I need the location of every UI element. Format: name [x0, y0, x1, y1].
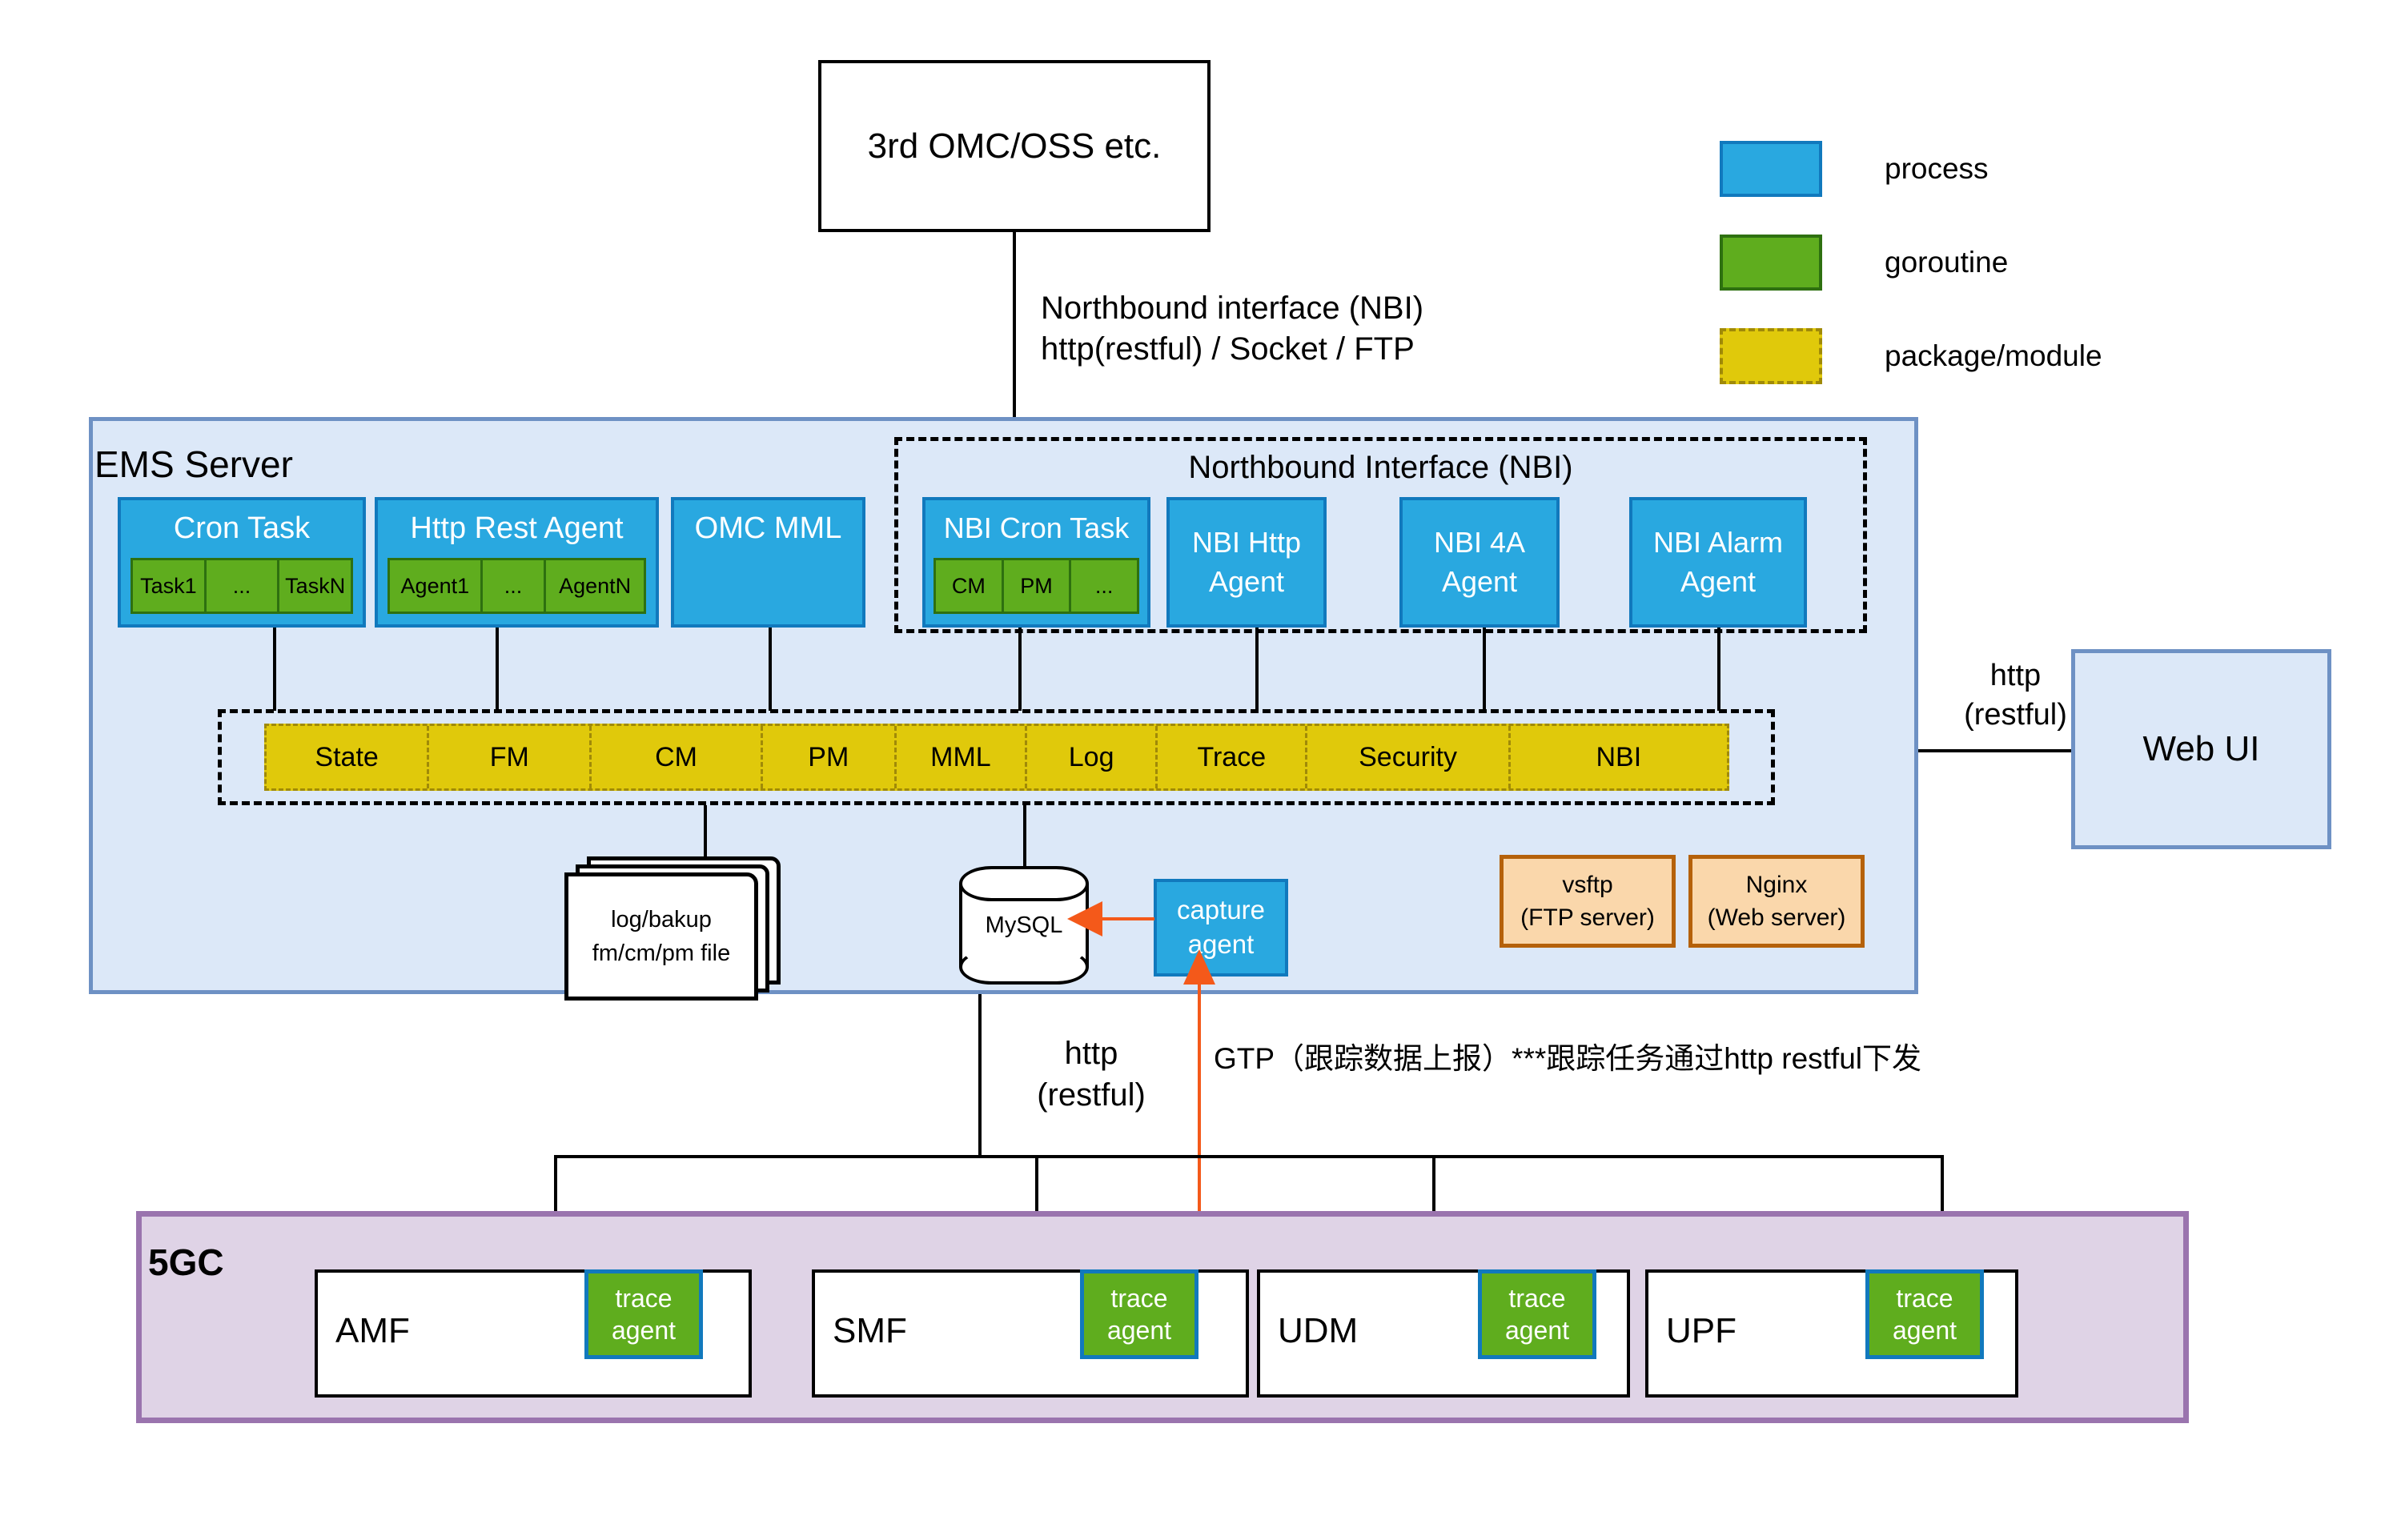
goroutine-row-http-rest-agent: Agent1 ... AgentN: [387, 558, 646, 614]
trace-agent-amf[interactable]: trace agent: [584, 1269, 703, 1359]
goroutine-ellipsis: ...: [1071, 558, 1139, 614]
goroutine-agent1[interactable]: Agent1: [387, 558, 483, 614]
mysql-database: MySQL: [959, 866, 1089, 985]
nf-upf-label: UPF: [1666, 1311, 1736, 1351]
file-sheet-front: log/bakup fm/cm/pm file: [564, 872, 758, 1001]
module-nbi[interactable]: NBI: [1511, 726, 1727, 788]
nf-udm-label: UDM: [1278, 1311, 1358, 1351]
trace-agent-amf-line2: agent: [612, 1314, 676, 1346]
process-omc-mml-label: OMC MML: [674, 500, 862, 556]
trace-agent-smf-line2: agent: [1107, 1314, 1171, 1346]
connector-http-rest-agent-to-modules: [496, 628, 499, 711]
capture-agent-line1: capture: [1177, 893, 1265, 928]
module-mml[interactable]: MML: [897, 726, 1027, 788]
legend-swatch-process: [1720, 141, 1822, 197]
connector-ems-to-web-ui: [1918, 749, 2071, 752]
legend-item-goroutine: goroutine: [1720, 238, 2216, 287]
legend-label-package: package/module: [1885, 339, 2102, 373]
legend-label-process: process: [1885, 152, 1989, 186]
legend-swatch-package: [1720, 328, 1822, 384]
goroutine-pm[interactable]: PM: [1004, 558, 1072, 614]
module-pm[interactable]: PM: [763, 726, 897, 788]
module-state[interactable]: State: [267, 726, 429, 788]
connector-nbi-cron-task-to-modules: [1018, 628, 1022, 711]
process-nbi-4a-agent-label-line1: NBI 4A: [1434, 523, 1525, 563]
nginx-line2: (Web server): [1708, 901, 1846, 934]
southbound-http-line2: (restful): [1007, 1074, 1175, 1116]
log-backup-files: log/bakup fm/cm/pm file: [564, 856, 773, 983]
trace-agent-smf-line1: trace: [1110, 1282, 1167, 1314]
trace-agent-amf-line1: trace: [615, 1282, 672, 1314]
trace-agent-upf[interactable]: trace agent: [1865, 1269, 1984, 1359]
connector-nbi-4a-agent-to-modules: [1483, 628, 1486, 711]
trace-agent-upf-line2: agent: [1893, 1314, 1957, 1346]
nbi-link-line2: http(restful) / Socket / FTP: [1041, 329, 1681, 370]
web-ui-box[interactable]: Web UI: [2071, 649, 2331, 849]
goroutine-row-nbi-cron-task: CM PM ...: [933, 558, 1139, 614]
nf-smf-label: SMF: [833, 1311, 907, 1351]
southbound-http-trunk: [978, 994, 982, 1155]
goroutine-ellipsis: ...: [483, 558, 547, 614]
arrowhead-gtp-to-capture-agent: [1182, 949, 1217, 988]
southbound-http-line1: http: [1007, 1033, 1175, 1074]
log-backup-line1: log/bakup: [611, 903, 712, 936]
process-nbi-cron-task-label: NBI Cron Task: [925, 500, 1147, 556]
web-ui-link-label: http (restful): [1945, 656, 2086, 734]
legend-swatch-goroutine: [1720, 235, 1822, 291]
http-distribution-bus: [554, 1155, 1944, 1158]
trace-agent-udm[interactable]: trace agent: [1478, 1269, 1596, 1359]
connector-nbi-alarm-agent-to-modules: [1717, 628, 1720, 711]
process-cron-task[interactable]: Cron Task Task1 ... TaskN: [118, 497, 366, 628]
connector-cron-task-to-modules: [273, 628, 276, 711]
process-cron-task-label: Cron Task: [121, 500, 363, 556]
vsftp-line2: (FTP server): [1520, 901, 1655, 934]
process-nbi-alarm-agent[interactable]: NBI Alarm Agent: [1629, 497, 1807, 628]
goroutine-cm[interactable]: CM: [933, 558, 1004, 614]
goroutine-taskn[interactable]: TaskN: [279, 558, 353, 614]
nginx-line1: Nginx: [1746, 868, 1808, 901]
third-party-omc-oss-label: 3rd OMC/OSS etc.: [868, 126, 1162, 166]
process-capture-agent[interactable]: capture agent: [1154, 879, 1288, 977]
web-ui-link-line2: (restful): [1945, 696, 2086, 735]
goroutine-agentn[interactable]: AgentN: [546, 558, 646, 614]
legend-item-package: package/module: [1720, 331, 2216, 381]
process-nbi-http-agent[interactable]: NBI Http Agent: [1166, 497, 1327, 628]
legend-label-goroutine: goroutine: [1885, 246, 2008, 279]
module-trace[interactable]: Trace: [1158, 726, 1307, 788]
southbound-http-label: http (restful): [1007, 1033, 1175, 1116]
nbi-link-line1: Northbound interface (NBI): [1041, 288, 1681, 329]
legend-item-process: process: [1720, 144, 2216, 194]
server-nginx[interactable]: Nginx (Web server): [1688, 855, 1865, 948]
nf-amf-label: AMF: [335, 1311, 410, 1351]
module-cm[interactable]: CM: [592, 726, 762, 788]
process-http-rest-agent-label: Http Rest Agent: [378, 500, 656, 556]
process-nbi-http-agent-label-line2: Agent: [1209, 563, 1284, 602]
trace-agent-udm-line1: trace: [1508, 1282, 1565, 1314]
process-nbi-alarm-agent-label-line1: NBI Alarm: [1653, 523, 1783, 563]
nbi-link-label: Northbound interface (NBI) http(restful)…: [1041, 288, 1681, 370]
process-nbi-4a-agent[interactable]: NBI 4A Agent: [1399, 497, 1560, 628]
web-ui-link-line1: http: [1945, 656, 2086, 696]
trace-agent-smf[interactable]: trace agent: [1080, 1269, 1198, 1359]
log-backup-line2: fm/cm/pm file: [592, 936, 730, 970]
process-nbi-alarm-agent-label-line2: Agent: [1680, 563, 1756, 602]
arrow-capture-agent-to-mysql: [1095, 917, 1154, 920]
process-nbi-4a-agent-label-line2: Agent: [1442, 563, 1517, 602]
process-http-rest-agent[interactable]: Http Rest Agent Agent1 ... AgentN: [375, 497, 659, 628]
core-network-title: 5GC: [148, 1241, 224, 1284]
process-omc-mml[interactable]: OMC MML: [671, 497, 865, 628]
module-log[interactable]: Log: [1027, 726, 1158, 788]
module-fm[interactable]: FM: [429, 726, 592, 788]
vsftp-line1: vsftp: [1562, 868, 1612, 901]
nbi-connector-line: [1013, 232, 1016, 417]
ems-server-title: EMS Server: [94, 443, 293, 486]
mysql-label: MySQL: [959, 866, 1089, 985]
trace-agent-udm-line2: agent: [1505, 1314, 1569, 1346]
connector-nbi-http-agent-to-modules: [1255, 628, 1259, 711]
module-security[interactable]: Security: [1307, 726, 1510, 788]
legend: process goroutine package/module: [1720, 144, 2216, 381]
gtp-note-label: GTP（跟踪数据上报）***跟踪任务通过http restful下发: [1214, 1034, 2094, 1077]
goroutine-task1[interactable]: Task1: [130, 558, 207, 614]
goroutine-ellipsis: ...: [207, 558, 280, 614]
server-vsftp[interactable]: vsftp (FTP server): [1500, 855, 1676, 948]
nbi-group-title: Northbound Interface (NBI): [894, 447, 1867, 488]
module-bar: State FM CM PM MML Log Trace Security NB…: [264, 724, 1729, 791]
process-nbi-cron-task[interactable]: NBI Cron Task CM PM ...: [922, 497, 1150, 628]
trace-agent-upf-line1: trace: [1896, 1282, 1953, 1314]
web-ui-label: Web UI: [2143, 729, 2260, 769]
connector-modules-to-mysql: [1023, 805, 1026, 866]
goroutine-row-cron-task: Task1 ... TaskN: [130, 558, 353, 614]
third-party-omc-oss-box: 3rd OMC/OSS etc.: [818, 60, 1211, 232]
process-nbi-http-agent-label-line1: NBI Http: [1192, 523, 1301, 563]
connector-omc-mml-to-modules: [769, 628, 772, 711]
